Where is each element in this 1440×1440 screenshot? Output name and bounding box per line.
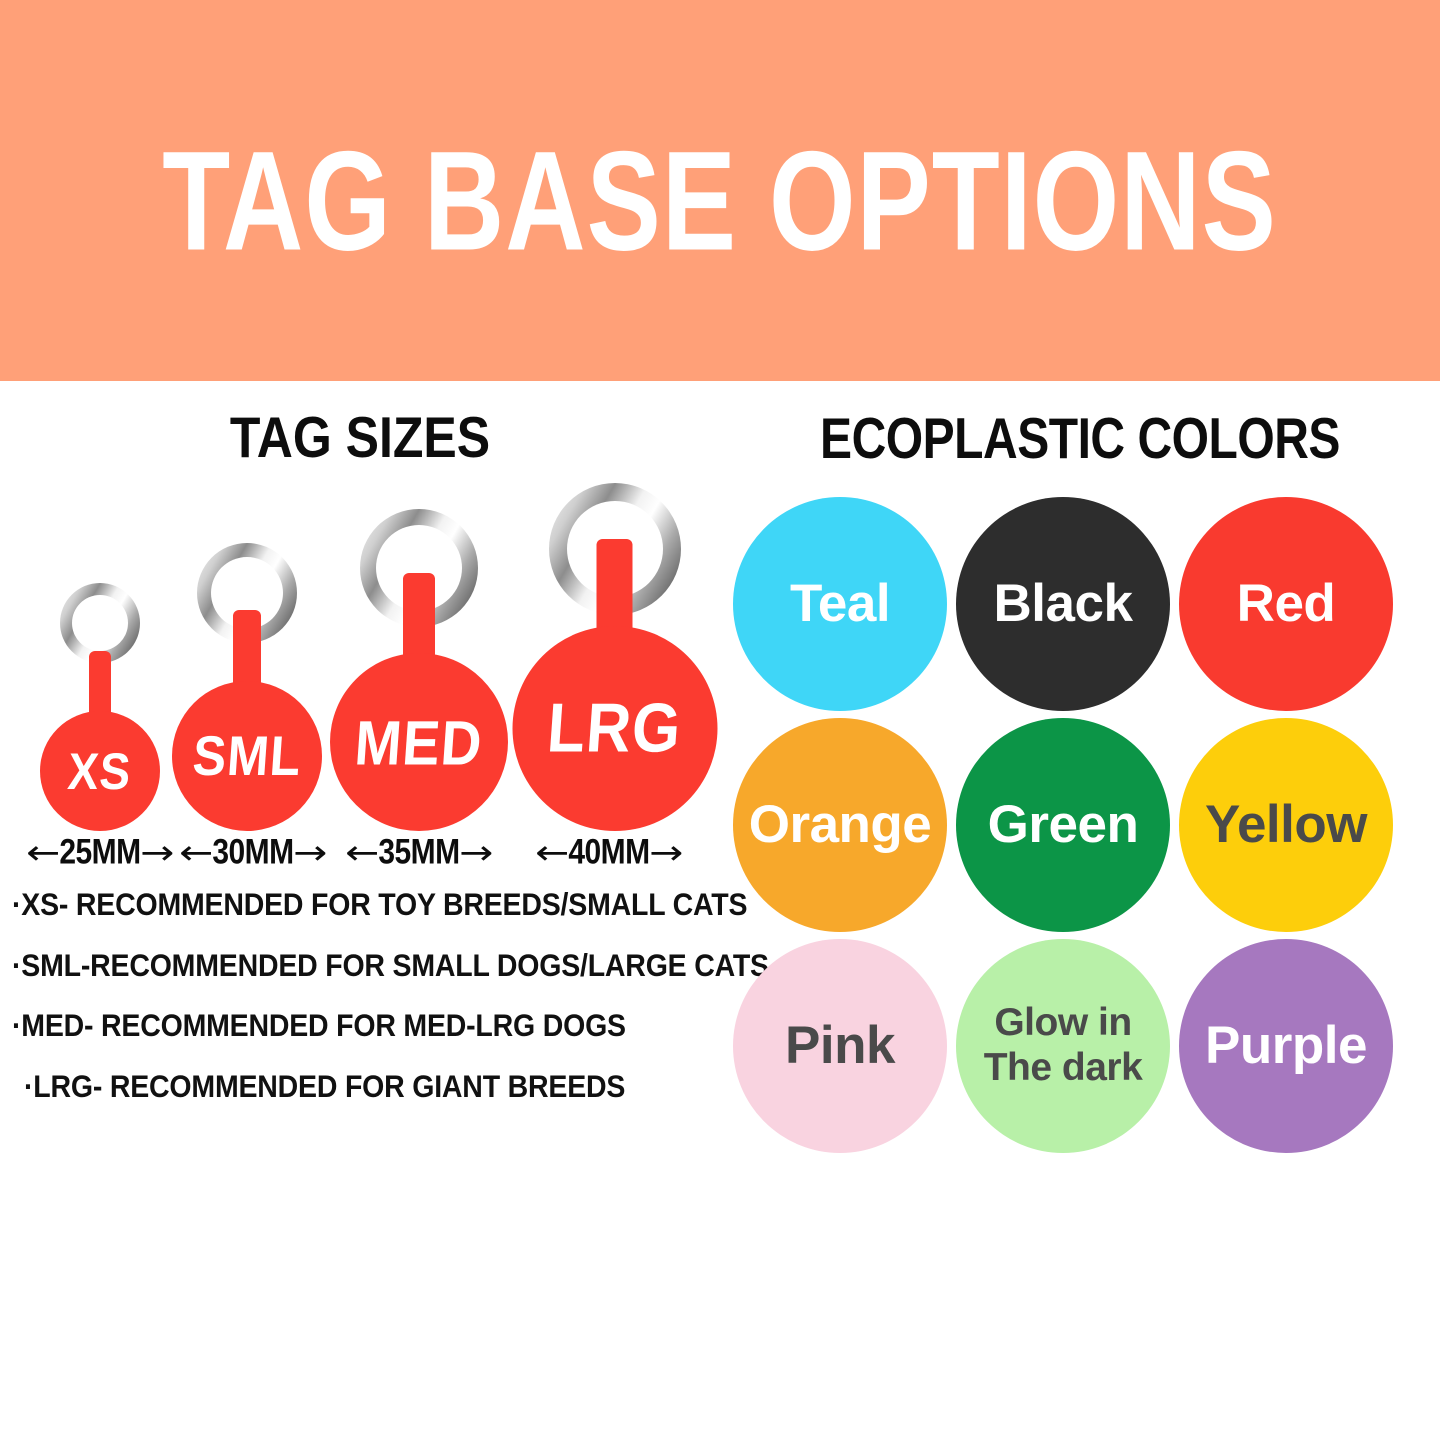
recommendation-list: ·XS- RECOMMENDED FOR TOY BREEDS/SMALL CA…: [0, 891, 720, 1133]
arrow-left-icon: ←: [345, 836, 379, 870]
tag-body: LRG: [512, 541, 717, 831]
arrow-left-icon: ←: [26, 836, 60, 870]
ecoplastic-colors-heading: ECOPLASTIC COLORS: [727, 406, 1433, 472]
swatch-teal[interactable]: Teal: [733, 497, 947, 711]
ecoplastic-colors-section: ECOPLASTIC COLORS Teal Black Red Orange …: [720, 381, 1440, 1440]
arrow-right-icon: →: [459, 836, 493, 870]
arrow-right-icon: →: [649, 836, 683, 870]
list-item: ·SML-RECOMMENDED FOR SMALL DOGS/LARGE CA…: [12, 950, 720, 982]
swatch-green[interactable]: Green: [956, 718, 1170, 932]
tag-disc: LRG: [512, 626, 717, 831]
tag-label: XS: [66, 741, 134, 801]
dimension-value: 35MM: [378, 833, 459, 873]
tag-size-illustrations: XS SML MED: [0, 481, 720, 831]
tag-sizes-section: TAG SIZES XS SML: [0, 381, 720, 1440]
tag-label: SML: [190, 724, 303, 789]
color-swatch-grid: Teal Black Red Orange Green Yellow Pink …: [733, 497, 1393, 1153]
tag-sml[interactable]: SML: [172, 543, 322, 831]
dimension-value: 30MM: [212, 833, 293, 873]
swatch-label: Pink: [781, 1019, 899, 1073]
tag-label: LRG: [545, 689, 684, 769]
dimension-xs: ← 25MM →: [18, 831, 182, 875]
tag-body: SML: [172, 601, 322, 831]
tag-disc: SML: [172, 681, 322, 831]
tag-xs[interactable]: XS: [40, 583, 160, 831]
tag-disc: XS: [40, 711, 160, 831]
dimension-sml: ← 30MM →: [166, 831, 340, 875]
swatch-label: Teal: [786, 577, 894, 631]
list-item: ·XS- RECOMMENDED FOR TOY BREEDS/SMALL CA…: [12, 889, 720, 921]
swatch-label: Green: [984, 798, 1143, 852]
swatch-label: Glow in The dark: [980, 1001, 1147, 1091]
swatch-red[interactable]: Red: [1179, 497, 1393, 711]
tag-lrg[interactable]: LRG: [512, 483, 717, 831]
list-item: ·LRG- RECOMMENDED FOR GIANT BREEDS: [24, 1071, 720, 1103]
arrow-right-icon: →: [293, 836, 327, 870]
dimension-med: ← 35MM →: [324, 831, 514, 875]
tag-body: XS: [40, 641, 160, 831]
tag-sizes-heading: TAG SIZES: [0, 404, 720, 471]
dimension-labels: ← 25MM → ← 30MM → ← 35MM → ← 40MM →: [0, 831, 720, 877]
swatch-orange[interactable]: Orange: [733, 718, 947, 932]
tag-med[interactable]: MED: [330, 509, 508, 831]
swatch-label: Yellow: [1201, 798, 1371, 852]
swatch-purple[interactable]: Purple: [1179, 939, 1393, 1153]
list-item: ·MED- RECOMMENDED FOR MED-LRG DOGS: [12, 1010, 720, 1042]
swatch-glow-in-the-dark[interactable]: Glow in The dark: [956, 939, 1170, 1153]
header-banner: TAG BASE OPTIONS: [0, 0, 1440, 381]
arrow-left-icon: ←: [179, 836, 213, 870]
swatch-label: Orange: [745, 798, 936, 852]
arrow-left-icon: ←: [535, 836, 569, 870]
swatch-pink[interactable]: Pink: [733, 939, 947, 1153]
swatch-label: Black: [990, 577, 1137, 631]
swatch-label: Red: [1233, 577, 1340, 631]
swatch-black[interactable]: Black: [956, 497, 1170, 711]
tag-body: MED: [330, 569, 508, 831]
tag-label: MED: [353, 706, 486, 779]
swatch-yellow[interactable]: Yellow: [1179, 718, 1393, 932]
tag-disc: MED: [330, 653, 508, 831]
dimension-value: 40MM: [568, 833, 649, 873]
page-title: TAG BASE OPTIONS: [163, 110, 1278, 271]
dimension-lrg: ← 40MM →: [506, 831, 712, 875]
swatch-label: Purple: [1201, 1019, 1371, 1073]
dimension-value: 25MM: [59, 833, 140, 873]
